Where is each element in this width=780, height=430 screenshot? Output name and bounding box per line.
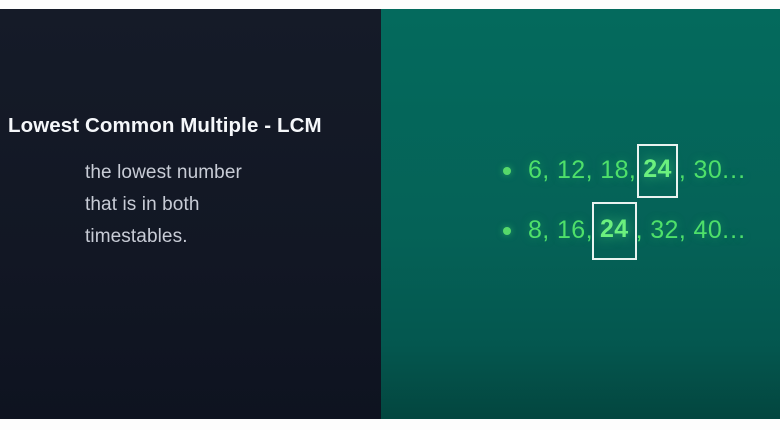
multiples-list-item-8: 8, 16, 24 , 32, 40 ... bbox=[503, 208, 746, 253]
lcm-definition-title: Lowest Common Multiple - LCM bbox=[8, 114, 373, 138]
definition-line-1: the lowest number bbox=[85, 157, 355, 189]
lcm-highlight-box-6: 24 bbox=[637, 148, 678, 193]
lcm-definition-body: the lowest number that is in both timest… bbox=[85, 157, 355, 253]
multiples-ellipsis-8: ... bbox=[722, 216, 746, 245]
definition-line-3: timestables. bbox=[85, 221, 355, 253]
bullet-dot-icon bbox=[503, 227, 511, 235]
letterbox-band-bottom bbox=[0, 419, 780, 430]
definition-line-2: that is in both bbox=[85, 189, 355, 221]
letterbox-band-top bbox=[0, 0, 780, 9]
multiples-prefix-8: 8, 16, bbox=[528, 216, 593, 245]
left-panel: Lowest Common Multiple - LCM the lowest … bbox=[0, 9, 381, 419]
bullet-dot-icon bbox=[503, 167, 511, 175]
multiples-list-item-6: 6, 12, 18, 24 , 30 ... bbox=[503, 148, 746, 193]
multiples-prefix-6: 6, 12, 18, bbox=[528, 156, 636, 185]
lcm-highlight-box-8: 24 bbox=[594, 208, 635, 253]
multiples-suffix-6: , 30 bbox=[679, 156, 722, 185]
multiples-suffix-8: , 32, 40 bbox=[636, 216, 723, 245]
slide-canvas: Lowest Common Multiple - LCM the lowest … bbox=[0, 0, 780, 430]
multiples-ellipsis-6: ... bbox=[722, 156, 746, 185]
